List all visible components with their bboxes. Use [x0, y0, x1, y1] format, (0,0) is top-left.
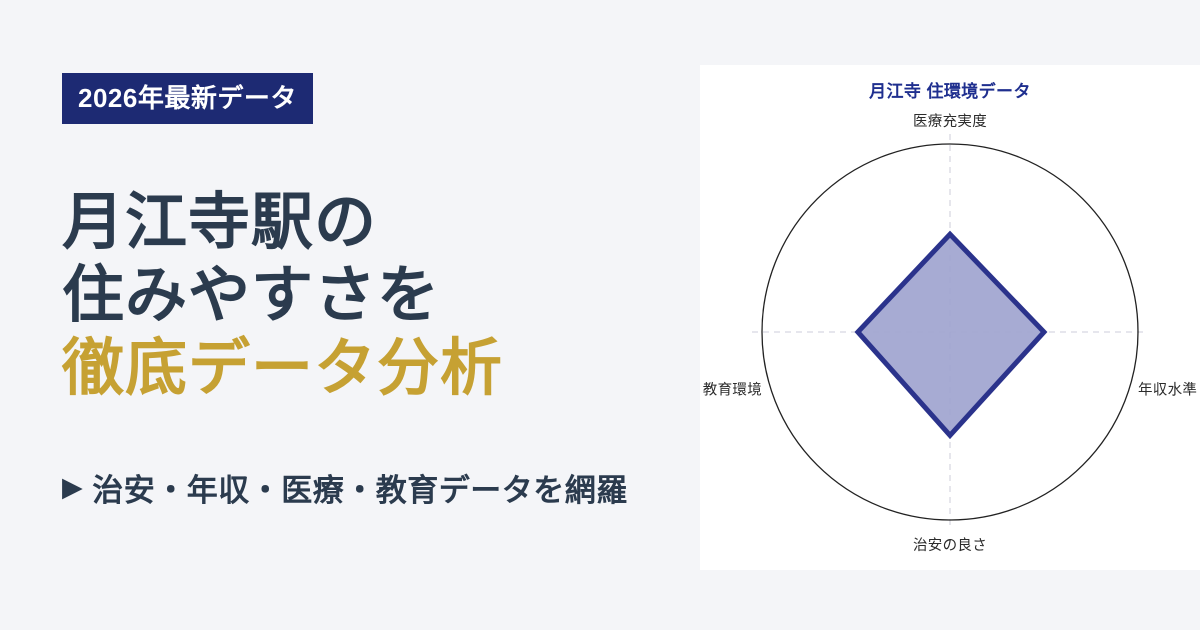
headline-column: 2026年最新データ 月江寺駅の 住みやすさを 徹底データ分析 ▶ 治安・年収・… [62, 0, 702, 630]
axis-label-medical: 医療充実度 [913, 110, 987, 131]
radar-chart-svg [700, 65, 1200, 570]
radar-data-polygon [858, 234, 1044, 435]
data-year-badge: 2026年最新データ [62, 73, 313, 124]
axis-label-safety: 治安の良さ [913, 534, 987, 555]
subtitle: ▶ 治安・年収・医療・教育データを網羅 [62, 465, 628, 510]
subtitle-text: 治安・年収・医療・教育データを網羅 [92, 465, 628, 510]
radar-chart: 医療充実度 年収水準 治安の良さ 教育環境 [700, 65, 1200, 570]
headline-line-3-accent: 徹底データ分析 [62, 332, 702, 405]
page-title: 月江寺駅の 住みやすさを 徹底データ分析 [62, 186, 702, 405]
axis-label-income: 年収水準 [1138, 379, 1197, 400]
triangle-marker-icon: ▶ [62, 474, 83, 501]
headline-line-2: 住みやすさを [62, 259, 702, 332]
axis-label-education: 教育環境 [703, 379, 762, 400]
radar-chart-panel: 月江寺 住環境データ 医療充実度 年収水準 治安の良さ 教育環境 [700, 65, 1200, 570]
headline-line-1: 月江寺駅の [62, 186, 702, 259]
ogp-card: 2026年最新データ 月江寺駅の 住みやすさを 徹底データ分析 ▶ 治安・年収・… [0, 0, 1200, 630]
